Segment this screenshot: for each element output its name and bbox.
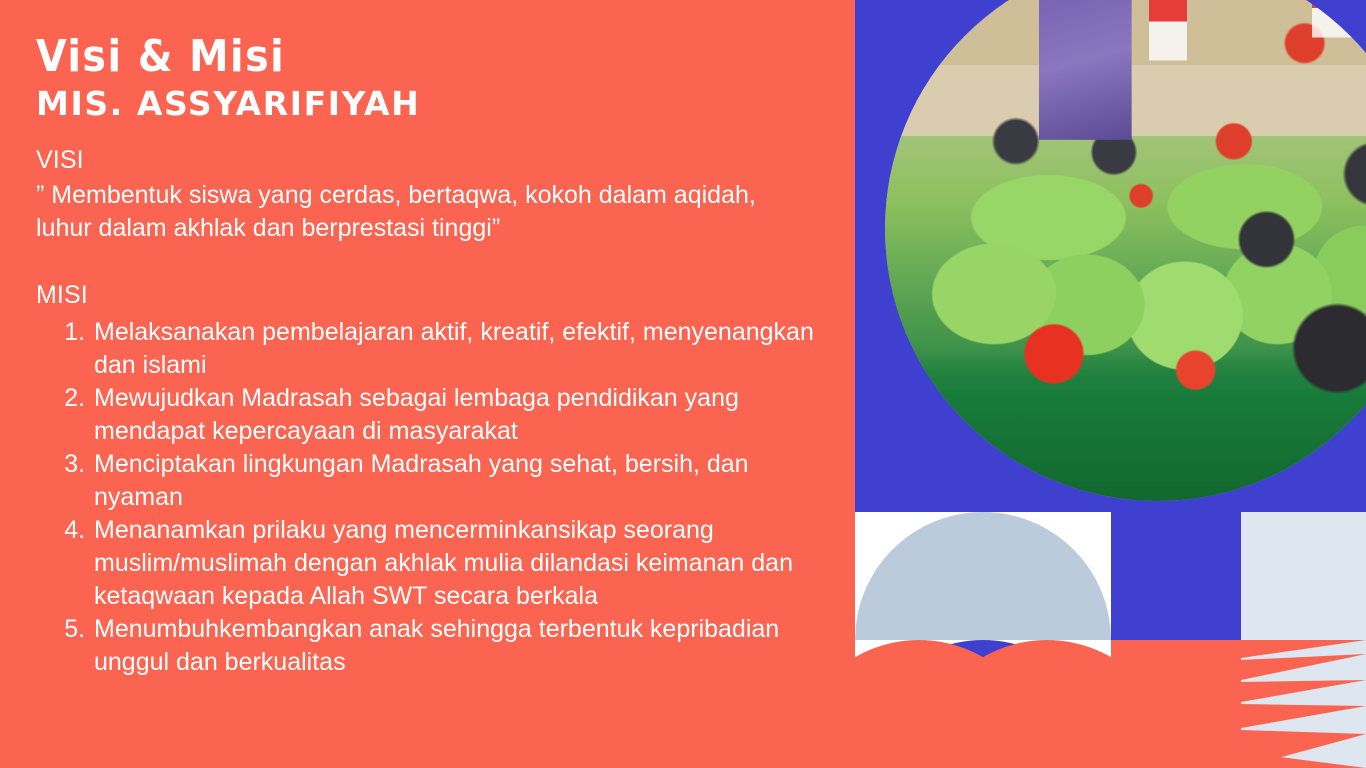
list-item: Mewujudkan Madrasah sebagai lembaga pend… [92, 382, 815, 448]
group-photo-image [885, 0, 1366, 501]
visi-text: ” Membentuk siswa yang cerdas, bertaqwa,… [36, 179, 815, 246]
visi-label: VISI [36, 144, 815, 177]
blue-square-shape [1111, 512, 1241, 640]
content-panel: Visi & Misi MIS. ASSYARIFIYAH VISI ” Mem… [0, 0, 855, 768]
grey-semicircle-shape [855, 512, 1111, 640]
orange-spikes-shape [1241, 640, 1366, 768]
misi-section: MISI Melaksanakan pembelajaran aktif, kr… [36, 279, 815, 679]
page-subtitle: MIS. ASSYARIFIYAH [36, 86, 815, 122]
list-item: Melaksanakan pembelajaran aktif, kreatif… [92, 316, 815, 382]
slide-canvas: Visi & Misi MIS. ASSYARIFIYAH VISI ” Mem… [0, 0, 1366, 768]
light-panel-shape [1241, 512, 1366, 640]
decorative-shapes [855, 512, 1366, 768]
photo-panel [855, 0, 1366, 512]
orange-block-shape [1111, 640, 1241, 768]
page-title: Visi & Misi [36, 34, 815, 80]
misi-label: MISI [36, 279, 815, 312]
misi-list: Melaksanakan pembelajaran aktif, kreatif… [36, 316, 815, 679]
group-photo [885, 0, 1366, 501]
list-item: Menumbuhkembangkan anak sehingga terbent… [92, 613, 815, 679]
visi-section: VISI ” Membentuk siswa yang cerdas, bert… [36, 144, 815, 245]
list-item: Menciptakan lingkungan Madrasah yang seh… [92, 448, 815, 514]
list-item: Menanamkan prilaku yang mencerminkansika… [92, 514, 815, 613]
